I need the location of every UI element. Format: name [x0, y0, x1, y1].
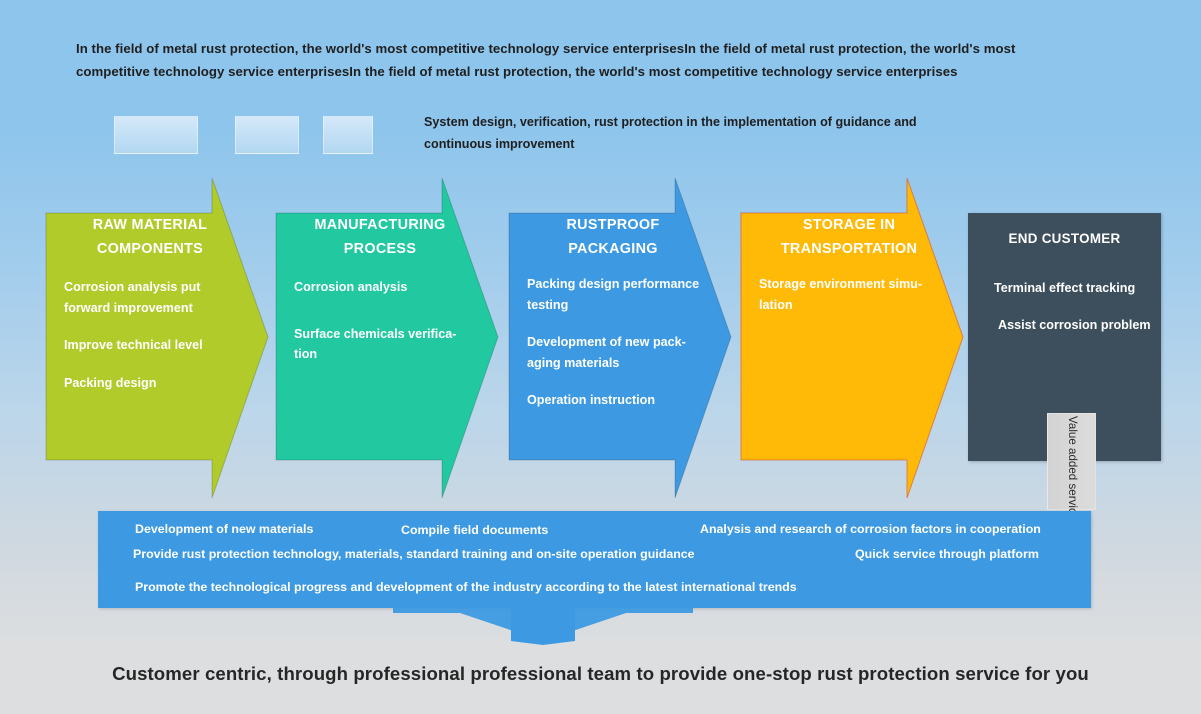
stage-bullets-rustproof-packaging: Packing design performance testing Devel…	[527, 274, 705, 410]
service-item: Promote the technological progress and d…	[135, 580, 797, 594]
stage-bullet: Packing design	[64, 373, 242, 393]
end-customer-bullet: Terminal effect tracking	[994, 278, 1153, 298]
stage-title-raw-material: RAW MATERIAL COMPONENTS	[64, 213, 242, 261]
value-added-service-label: Value added service	[1064, 416, 1078, 508]
stage-arrow-raw-material[interactable]: RAW MATERIAL COMPONENTS Corrosion analys…	[40, 176, 280, 500]
footer-tagline: Customer centric, through professional p…	[0, 663, 1201, 685]
stage-arrow-storage-transportation[interactable]: STORAGE IN TRANSPORTATION Storage enviro…	[735, 176, 975, 500]
value-added-service-tab[interactable]: Value added service	[1047, 413, 1096, 510]
stage-bullet: Storage environment simu-lation	[759, 274, 945, 315]
stage-arrow-manufacturing[interactable]: MANUFACTURING PROCESS Corrosion analysis…	[270, 176, 510, 500]
stage-bullet: Packing design performance testing	[527, 274, 705, 315]
stage-title-line-2: PROCESS	[294, 237, 466, 261]
stage-bullets-storage-transportation: Storage environment simu-lation	[759, 274, 945, 315]
stage-title-storage-transportation: STORAGE IN TRANSPORTATION	[759, 213, 945, 261]
stage-title-line-1: STORAGE IN	[759, 213, 939, 237]
stage-bullet: Operation instruction	[527, 390, 705, 410]
down-arrow-icon	[393, 607, 693, 645]
decorative-chip-3	[323, 116, 373, 154]
stage-arrow-rustproof-packaging[interactable]: RUSTPROOF PACKAGING Packing design perfo…	[503, 176, 743, 500]
stage-title-line-1: MANUFACTURING	[294, 213, 466, 237]
end-customer-bullets: Terminal effect tracking Assist corrosio…	[968, 278, 1161, 336]
stage-title-line-1: RAW MATERIAL	[64, 213, 236, 237]
stage-title-line-1: RUSTPROOF	[527, 213, 699, 237]
stage-content-rustproof-packaging: RUSTPROOF PACKAGING Packing design perfo…	[503, 213, 705, 427]
system-design-note: System design, verification, rust protec…	[424, 112, 944, 155]
stage-bullet: Corrosion analysis put forward improveme…	[64, 277, 242, 318]
stage-bullet: Surface chemicals verifica-tion	[294, 324, 472, 365]
stage-content-raw-material: RAW MATERIAL COMPONENTS Corrosion analys…	[40, 213, 242, 410]
stage-bullet: Development of new pack-aging materials	[527, 332, 705, 373]
stage-content-manufacturing: MANUFACTURING PROCESS Corrosion analysis…	[270, 213, 472, 382]
diagram-canvas: In the field of metal rust protection, t…	[0, 0, 1201, 714]
headline-text: In the field of metal rust protection, t…	[76, 38, 1076, 83]
stage-title-line-2: COMPONENTS	[64, 237, 236, 261]
stage-title-line-2: PACKAGING	[527, 237, 699, 261]
stage-title-rustproof-packaging: RUSTPROOF PACKAGING	[527, 213, 705, 261]
end-customer-bullet: Assist corrosion problem	[994, 315, 1153, 335]
stage-bullets-raw-material: Corrosion analysis put forward improveme…	[64, 277, 242, 393]
stage-title-manufacturing: MANUFACTURING PROCESS	[294, 213, 472, 261]
stage-bullet: Improve technical level	[64, 335, 242, 355]
decorative-chip-2	[235, 116, 299, 154]
services-band[interactable]: Development of new materials Compile fie…	[98, 511, 1091, 608]
stage-bullet: Corrosion analysis	[294, 277, 472, 297]
end-customer-title: END CUSTOMER	[968, 231, 1161, 246]
service-item: Quick service through platform	[855, 547, 1039, 561]
stage-bullets-manufacturing: Corrosion analysis Surface chemicals ver…	[294, 277, 472, 364]
service-item: Compile field documents	[401, 523, 548, 537]
decorative-chip-1	[114, 116, 198, 154]
service-item: Development of new materials	[135, 522, 313, 536]
stage-content-storage-transportation: STORAGE IN TRANSPORTATION Storage enviro…	[735, 213, 945, 332]
stage-title-line-2: TRANSPORTATION	[759, 237, 939, 261]
service-item: Analysis and research of corrosion facto…	[700, 522, 1041, 536]
service-item: Provide rust protection technology, mate…	[133, 547, 695, 561]
